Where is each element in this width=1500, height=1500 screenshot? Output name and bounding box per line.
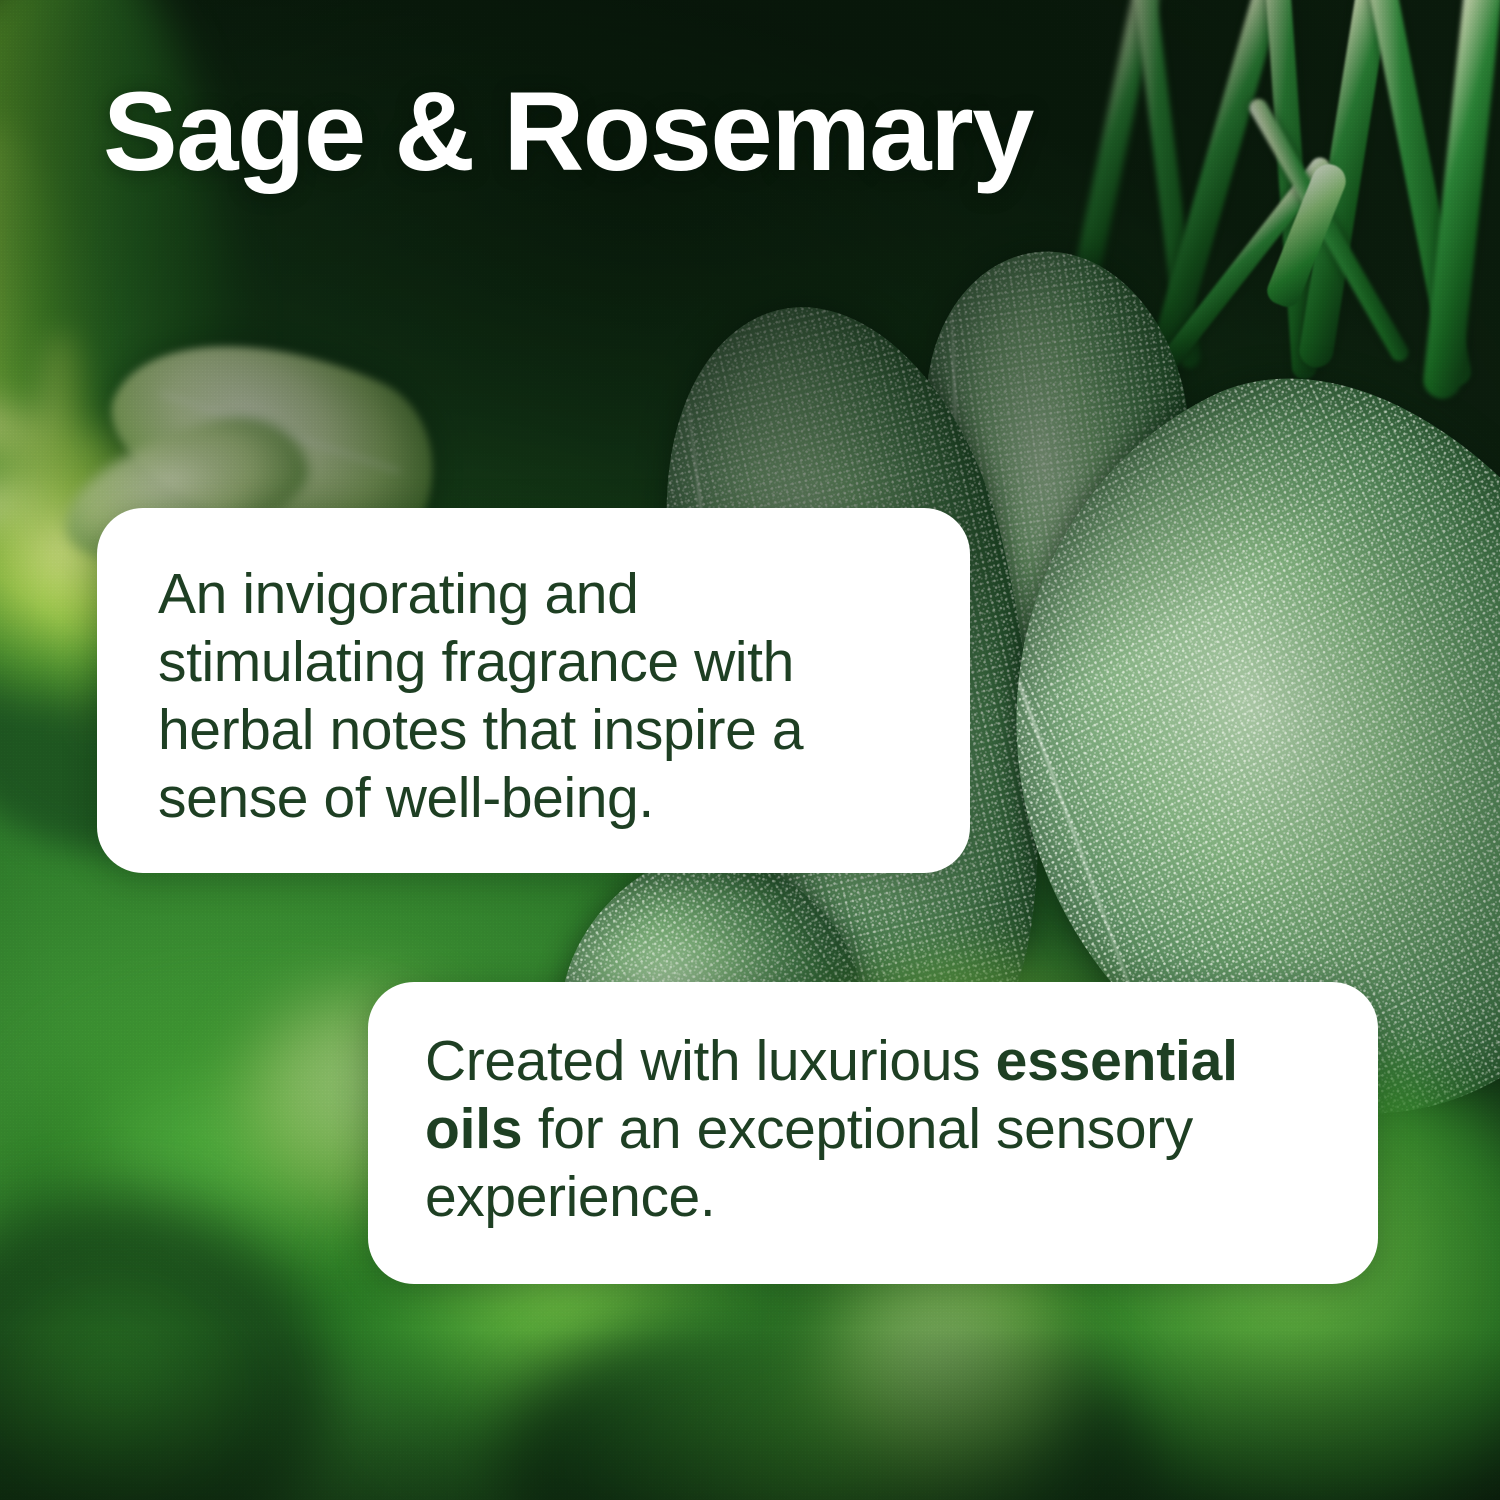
essential-oils-text-lead: Created with luxurious [425, 1029, 996, 1093]
essential-oils-text-tail: for an exceptional sensory experience. [425, 1097, 1193, 1229]
essential-oils-text: Created with luxurious essential oils fo… [425, 1027, 1322, 1231]
marketing-banner: Sage & Rosemary An invigorating and stim… [0, 0, 1500, 1500]
fragrance-description-text: An invigorating and stimulating fragranc… [158, 560, 910, 832]
essential-oils-card: Created with luxurious essential oils fo… [368, 982, 1378, 1284]
page-title: Sage & Rosemary [103, 76, 1033, 188]
fragrance-description-card: An invigorating and stimulating fragranc… [97, 508, 970, 873]
